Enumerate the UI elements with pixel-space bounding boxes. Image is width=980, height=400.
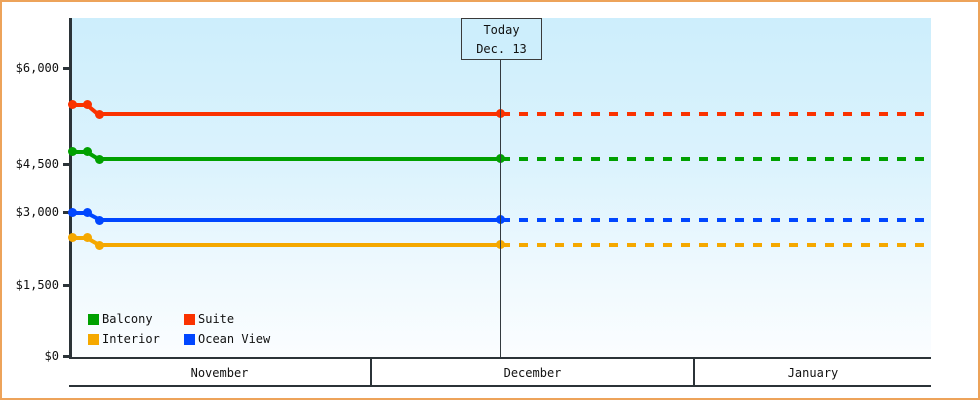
series-line-interior-solid bbox=[98, 243, 501, 247]
plot-area-background bbox=[72, 18, 931, 357]
data-point-balcony-1 bbox=[83, 147, 92, 156]
y-tick-label-3000: $3,000 bbox=[16, 205, 59, 219]
month-label-november: November bbox=[69, 364, 370, 382]
month-axis-top-rule bbox=[69, 357, 931, 359]
series-line-interior-projected bbox=[501, 243, 931, 247]
series-line-oceanview-solid bbox=[98, 218, 501, 222]
legend-swatch-balcony-icon bbox=[88, 314, 99, 325]
data-point-oceanview-0 bbox=[68, 208, 77, 217]
data-point-interior-2 bbox=[95, 241, 104, 250]
today-date: Dec. 13 bbox=[462, 40, 541, 59]
y-tick-mark-6000 bbox=[63, 67, 72, 70]
y-tick-mark-1500 bbox=[63, 284, 72, 287]
today-label: Today bbox=[462, 21, 541, 40]
legend-swatch-interior-icon bbox=[88, 334, 99, 345]
legend-item-balcony[interactable]: Balcony bbox=[88, 312, 153, 326]
data-point-interior-0 bbox=[68, 233, 77, 242]
data-point-balcony-2 bbox=[95, 155, 104, 164]
series-line-balcony-projected bbox=[501, 157, 931, 161]
data-point-suite-0 bbox=[68, 100, 77, 109]
legend-swatch-ocean-view-icon bbox=[184, 334, 195, 345]
series-line-suite-projected bbox=[501, 112, 931, 116]
legend-label-suite: Suite bbox=[198, 312, 234, 326]
legend-item-suite[interactable]: Suite bbox=[184, 312, 234, 326]
series-line-oceanview-projected bbox=[501, 218, 931, 222]
legend-item-ocean-view[interactable]: Ocean View bbox=[184, 332, 270, 346]
data-point-suite-2 bbox=[95, 110, 104, 119]
y-tick-label-6000: $6,000 bbox=[16, 61, 59, 75]
data-point-interior-1 bbox=[83, 233, 92, 242]
data-point-balcony-0 bbox=[68, 147, 77, 156]
data-point-oceanview-2 bbox=[95, 216, 104, 225]
series-line-balcony-solid bbox=[98, 157, 501, 161]
today-annotation-box: Today Dec. 13 bbox=[461, 18, 542, 60]
today-vertical-line bbox=[500, 18, 501, 357]
legend-item-interior[interactable]: Interior bbox=[88, 332, 160, 346]
legend-swatch-suite-icon bbox=[184, 314, 195, 325]
legend-label-balcony: Balcony bbox=[102, 312, 153, 326]
legend-label-ocean-view: Ocean View bbox=[198, 332, 270, 346]
month-label-december: December bbox=[372, 364, 693, 382]
y-tick-label-1500: $1,500 bbox=[16, 278, 59, 292]
price-history-chart: $6,000 $4,500 $3,000 $1,500 $0 Today Dec… bbox=[0, 0, 980, 400]
month-label-january: January bbox=[695, 364, 931, 382]
chart-legend: Balcony Suite Interior Ocean View bbox=[88, 312, 298, 350]
month-axis-bottom-rule bbox=[69, 385, 931, 387]
data-point-suite-1 bbox=[83, 100, 92, 109]
data-point-oceanview-1 bbox=[83, 208, 92, 217]
y-tick-label-0: $0 bbox=[45, 349, 59, 363]
series-line-suite-solid bbox=[98, 112, 501, 116]
legend-label-interior: Interior bbox=[102, 332, 160, 346]
y-tick-mark-4500 bbox=[63, 163, 72, 166]
y-tick-label-4500: $4,500 bbox=[16, 157, 59, 171]
